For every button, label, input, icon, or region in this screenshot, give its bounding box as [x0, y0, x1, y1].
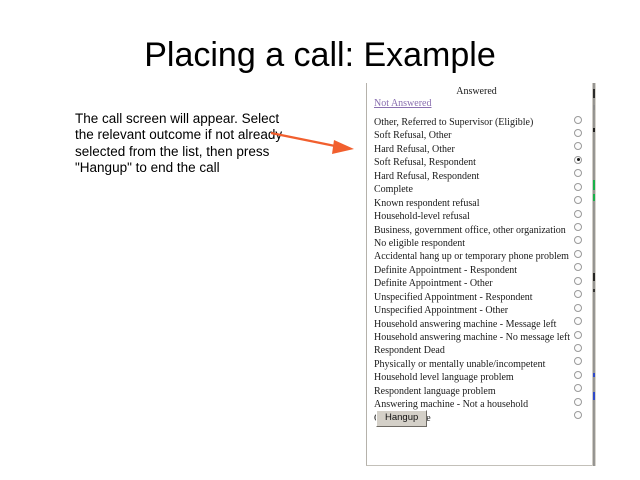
outcome-radio-button[interactable] [574, 290, 582, 298]
outcome-row[interactable]: Known respondent refusal [367, 193, 594, 206]
outcome-row[interactable]: Complete [367, 179, 594, 192]
outcome-row[interactable]: Soft Refusal, Other [367, 125, 594, 138]
call-screen-panel: Answered Not Answered Other, Referred to… [366, 83, 595, 466]
outcome-radio-button[interactable] [574, 236, 582, 244]
outcome-radio-button[interactable] [574, 223, 582, 231]
adjacent-window-edge [592, 83, 596, 466]
outcome-radio-button[interactable] [574, 169, 582, 177]
outcome-row[interactable]: Physically or mentally unable/incompeten… [367, 354, 594, 367]
outcome-radio-button[interactable] [574, 371, 582, 379]
not-answered-link[interactable]: Not Answered [374, 98, 432, 109]
outcome-radio-button[interactable] [574, 411, 582, 419]
outcome-row[interactable]: Household answering machine - Message le… [367, 314, 594, 327]
outcome-row[interactable]: Household level language problem [367, 367, 594, 380]
outcome-radio-list: Other, Referred to Supervisor (Eligible)… [367, 112, 594, 421]
outcome-row[interactable]: Answering machine - Not a household [367, 394, 594, 407]
outcome-radio-button[interactable] [574, 357, 582, 365]
outcome-row[interactable]: Household-level refusal [367, 206, 594, 219]
outcome-row[interactable]: Soft Refusal, Respondent [367, 152, 594, 165]
outcome-row[interactable]: Respondent Dead [367, 340, 594, 353]
outcome-radio-button[interactable] [574, 250, 582, 258]
outcome-row[interactable]: Hard Refusal, Respondent [367, 166, 594, 179]
outcome-row[interactable]: Accidental hang up or temporary phone pr… [367, 246, 594, 259]
outcome-radio-button[interactable] [574, 331, 582, 339]
outcome-row[interactable]: No eligible respondent [367, 233, 594, 246]
outcome-row[interactable]: Business, government office, other organ… [367, 220, 594, 233]
outcome-row[interactable]: Unspecified Appointment - Other [367, 300, 594, 313]
outcome-row[interactable]: Respondent language problem [367, 381, 594, 394]
outcome-radio-button[interactable] [574, 129, 582, 137]
outcome-radio-button[interactable] [574, 183, 582, 191]
outcome-radio-button[interactable] [574, 210, 582, 218]
hangup-button[interactable]: Hangup [376, 410, 427, 427]
page-title: Placing a call: Example [0, 36, 640, 75]
outcome-radio-button[interactable] [574, 142, 582, 150]
outcome-row[interactable]: Definite Appointment - Other [367, 273, 594, 286]
answered-section-header: Answered [367, 86, 586, 97]
outcome-radio-button[interactable] [574, 156, 582, 164]
outcome-row[interactable]: Hard Refusal, Other [367, 139, 594, 152]
outcome-radio-button[interactable] [574, 304, 582, 312]
outcome-radio-button[interactable] [574, 384, 582, 392]
instruction-text: The call screen will appear. Select the … [75, 111, 290, 177]
outcome-row[interactable]: Household answering machine - No message… [367, 327, 594, 340]
outcome-radio-button[interactable] [574, 317, 582, 325]
outcome-radio-button[interactable] [574, 116, 582, 124]
outcome-radio-button[interactable] [574, 398, 582, 406]
outcome-radio-button[interactable] [574, 196, 582, 204]
outcome-radio-button[interactable] [574, 344, 582, 352]
outcome-row[interactable]: Definite Appointment - Respondent [367, 260, 594, 273]
outcome-radio-button[interactable] [574, 277, 582, 285]
outcome-row[interactable]: Other, Referred to Supervisor (Eligible) [367, 112, 594, 125]
outcome-radio-button[interactable] [574, 263, 582, 271]
outcome-row[interactable]: Unspecified Appointment - Respondent [367, 287, 594, 300]
